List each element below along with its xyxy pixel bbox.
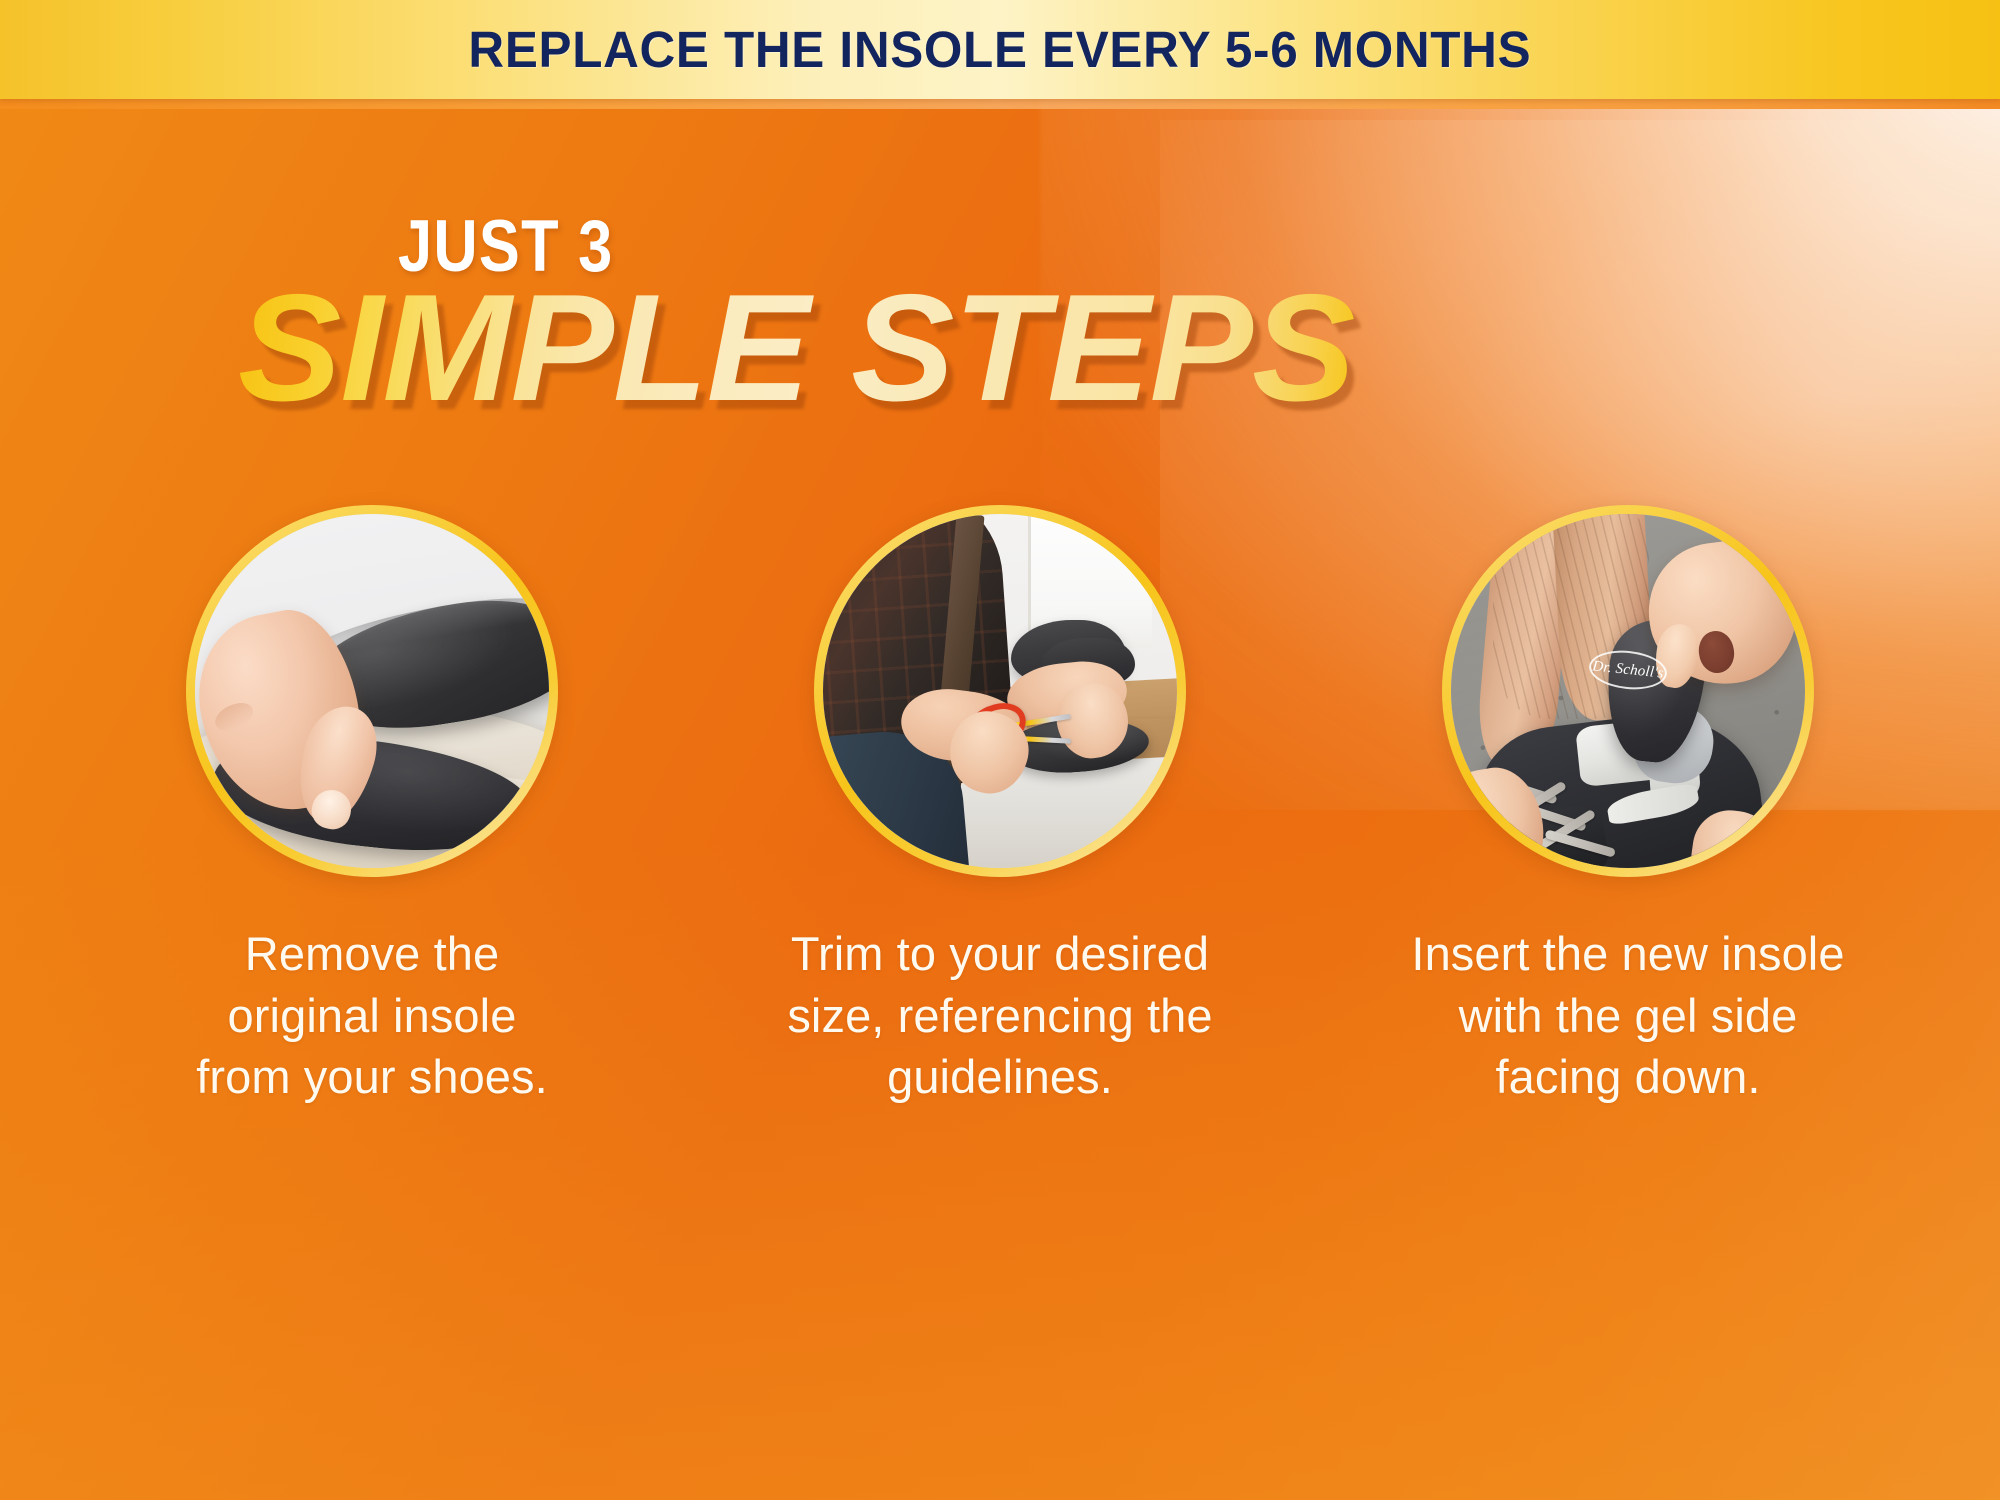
step-card-3: Dr. Scholl's Insert the new insole with …: [1350, 505, 1906, 1108]
caption-line: Remove the: [137, 923, 607, 985]
caption-line: facing down.: [1393, 1046, 1863, 1108]
headline-fill-layer: SIMPLE STEPS: [238, 263, 1354, 433]
photo-ring-1: [186, 505, 558, 877]
step-card-1: Remove the original insole from your sho…: [94, 505, 650, 1108]
photo-ring-3: Dr. Scholl's: [1442, 505, 1814, 877]
caption-line: original insole: [137, 985, 607, 1047]
caption-line: Insert the new insole: [1393, 923, 1863, 985]
photo1-knuckle-shading: [211, 698, 258, 737]
step-photo-2: [823, 514, 1177, 868]
banner-headline: REPLACE THE INSOLE EVERY 5-6 MONTHS: [469, 20, 1532, 79]
infographic-canvas: REPLACE THE INSOLE EVERY 5-6 MONTHS JUST…: [0, 0, 2000, 1500]
step-caption-1: Remove the original insole from your sho…: [137, 923, 607, 1108]
caption-line: with the gel side: [1393, 985, 1863, 1047]
caption-line: from your shoes.: [137, 1046, 607, 1108]
caption-line: Trim to your desired: [765, 923, 1235, 985]
caption-line: size, referencing the: [765, 985, 1235, 1047]
step-photo-1: [195, 514, 549, 868]
photo-ring-2: [814, 505, 1186, 877]
steps-row: Remove the original insole from your sho…: [0, 505, 2000, 1108]
step-caption-2: Trim to your desired size, referencing t…: [765, 923, 1235, 1108]
step-caption-3: Insert the new insole with the gel side …: [1393, 923, 1863, 1108]
header-banner: REPLACE THE INSOLE EVERY 5-6 MONTHS: [0, 0, 2000, 99]
main-headline: SIMPLE STEPS SIMPLE STEPS: [238, 272, 1354, 424]
step-photo-3: Dr. Scholl's: [1451, 514, 1805, 868]
banner-underline-divider: [0, 99, 2000, 109]
caption-line: guidelines.: [765, 1046, 1235, 1108]
step-card-2: Trim to your desired size, referencing t…: [722, 505, 1278, 1108]
